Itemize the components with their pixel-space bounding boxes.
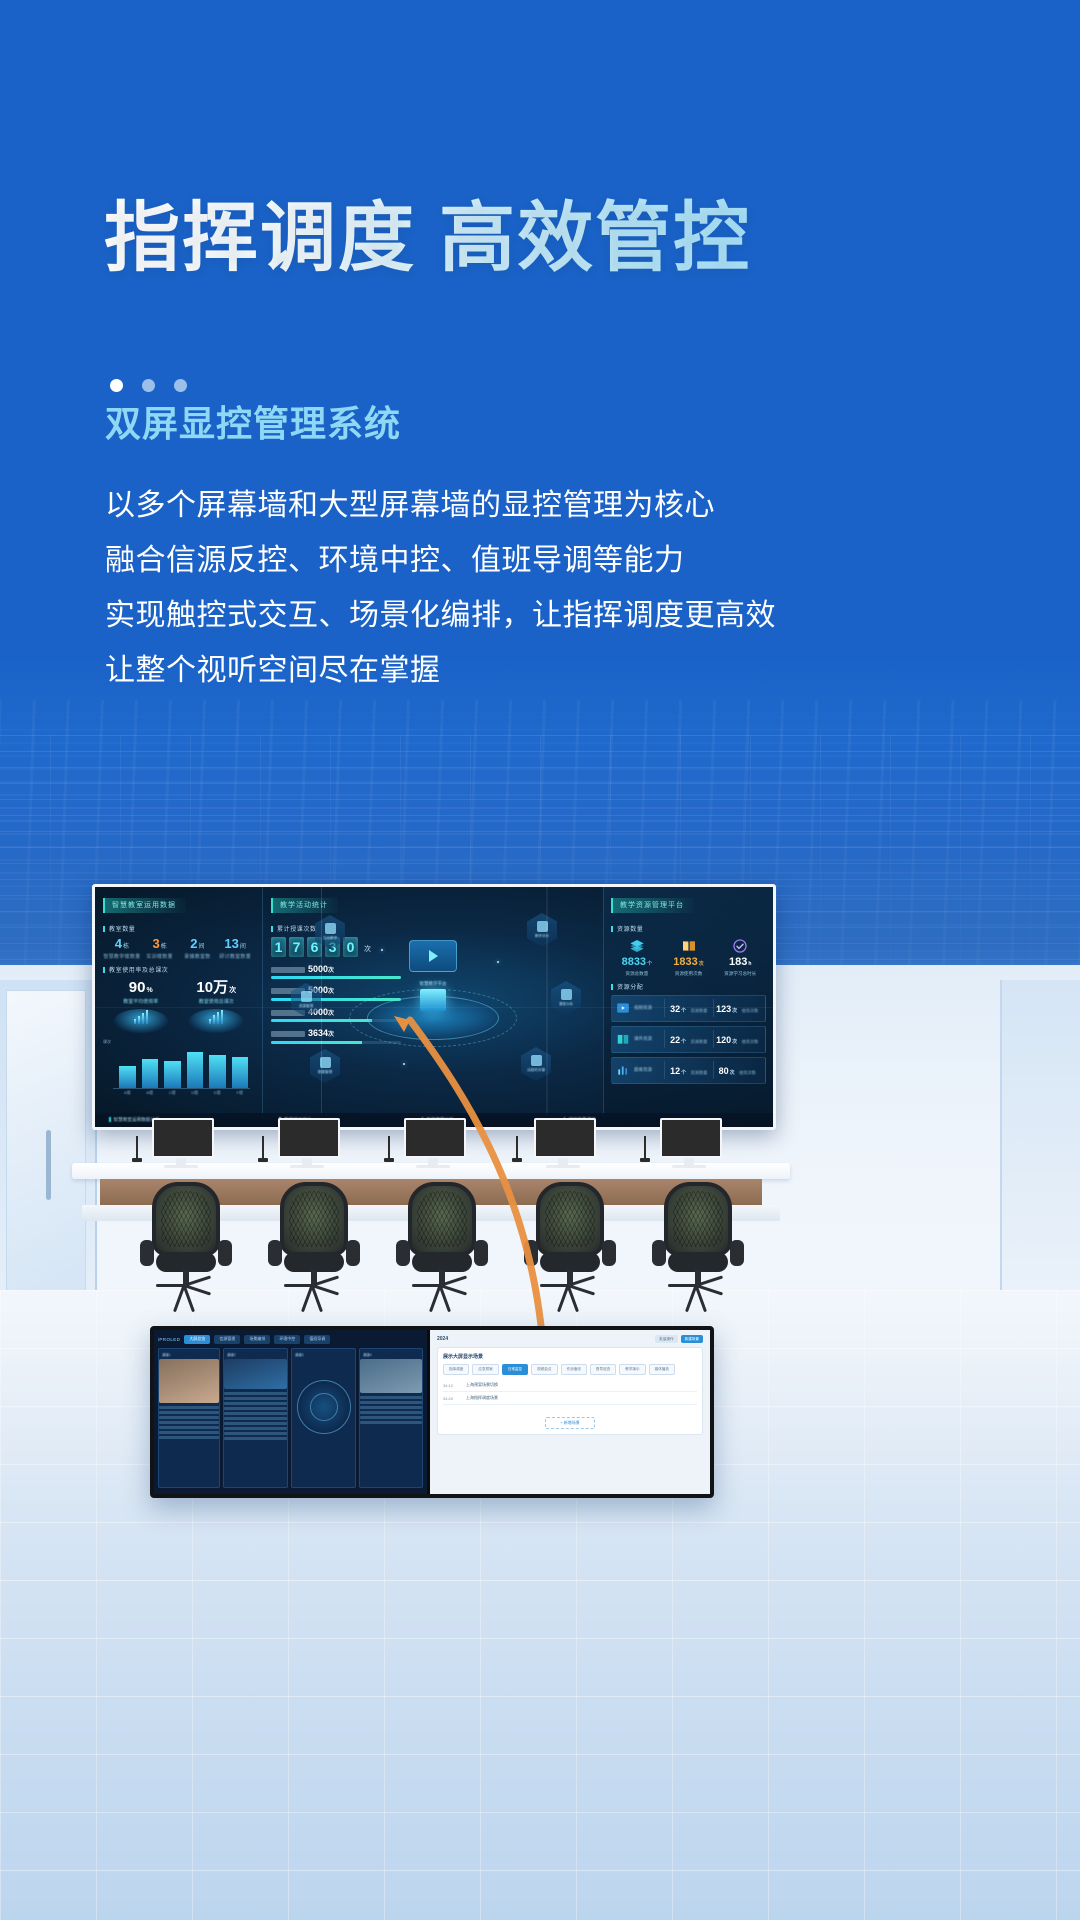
chair-back: [664, 1182, 732, 1256]
resource-value: 8833: [622, 956, 646, 968]
alloc-uses: 123次 使用次数: [713, 999, 762, 1017]
source-cell-4[interactable]: 通道4: [359, 1348, 423, 1488]
hex-glyph-icon: [561, 989, 572, 1000]
mic-base: [384, 1158, 394, 1162]
hex-node-5: 课堂分析: [551, 981, 581, 1015]
scene-chip-5[interactable]: 作战值班: [561, 1364, 587, 1375]
office-chair-1: [140, 1182, 232, 1300]
header-buttons: 批量操作 新建场景: [655, 1335, 703, 1343]
chart-xlabels: A楼 B楼 C楼 D楼 E楼 F楼: [119, 1090, 248, 1096]
hex-label: 数据管理: [318, 1070, 332, 1075]
scene-chip-4[interactable]: 视频会议: [531, 1364, 557, 1375]
monitor-foot: [672, 1165, 706, 1168]
wall-panel-center: 教学活动统计 累计授课次数 1 7 6 3 0 次 5000次: [263, 887, 603, 1127]
scene-chip-2[interactable]: 应急预案: [472, 1364, 498, 1375]
scene-card-title: 展示大屏显示场景: [443, 1353, 697, 1360]
chair-mesh: [417, 1191, 467, 1247]
chair-mesh: [673, 1191, 723, 1247]
source-thumb-person: [159, 1359, 219, 1403]
right-section-2-label: 资源分配: [611, 982, 766, 991]
video-wall[interactable]: 智慧教室运用数据 教室数量 4栋 智慧教学楼数量 3栋 实训楼数量 2间 录播教…: [92, 884, 776, 1130]
device-source-grid: 通道1 通道2 通道3 通道4: [158, 1348, 423, 1488]
resource-caption: 资源总数量: [611, 971, 663, 977]
network-dot: [403, 1063, 405, 1065]
scene-chip-1[interactable]: 指挥调度: [443, 1364, 469, 1375]
chair-arm-right: [218, 1240, 232, 1266]
alloc-count: 22个 资源数量: [664, 1030, 713, 1048]
source-cell-3[interactable]: 通道3: [291, 1348, 356, 1488]
alloc-uses-unit: 次: [732, 1039, 737, 1045]
copy-block: 双屏显控管理系统 以多个屏幕墙和大型屏幕墙的显控管理为核心 融合信源反控、环境中…: [0, 395, 1080, 667]
chart-ylabel: 课次: [103, 1039, 111, 1045]
chair-back: [536, 1182, 604, 1256]
kpi-recording-rooms: 2间 录播教室数: [179, 937, 217, 960]
source-cell-label: 通道4: [363, 1352, 372, 1357]
chart-xlabel: E楼: [209, 1090, 226, 1096]
alloc-count-value: 32: [670, 1004, 680, 1014]
body-line-2: 融合信源反控、环境中控、值班导调等能力: [105, 546, 1080, 576]
scene-chip-list[interactable]: 指挥调度 应急预案 日常监控 视频会议 作战值班 督导巡查 教学演示 媒体播放: [443, 1364, 697, 1375]
dot-1[interactable]: [110, 379, 123, 392]
resource-caption: 资源学习总时长: [714, 971, 766, 977]
monitor-foot: [164, 1165, 198, 1168]
source-thumb-dashboard: [224, 1359, 287, 1389]
book-icon: [681, 938, 697, 954]
book-open-icon: [616, 1032, 630, 1046]
alloc-name: 题库资源: [634, 1067, 664, 1073]
chair-arm-left: [396, 1240, 410, 1266]
subtitle: 双屏显控管理系统: [105, 395, 1080, 447]
source-cell-label: 通道2: [227, 1352, 236, 1357]
year-label: 2024: [437, 1336, 448, 1342]
chart-icon: [616, 1063, 630, 1077]
chair-seat: [540, 1252, 600, 1272]
alloc-count: 32个 资源数量: [664, 999, 713, 1017]
door-handle: [46, 1130, 51, 1200]
kpi-unit: 次: [229, 987, 236, 994]
hex-glyph-icon: [320, 1057, 331, 1068]
device-tab-sources[interactable]: 信源管理: [214, 1335, 240, 1344]
chair-mesh: [545, 1191, 595, 1247]
source-mini-rows: [224, 1392, 287, 1440]
kpi-teaching-buildings: 4栋 智慧教学楼数量: [103, 937, 141, 960]
chair-mesh: [161, 1191, 211, 1247]
resource-alloc-table: 视频资源 32个 资源数量 123次 使用次数: [611, 995, 766, 1084]
alloc-uses: 80次 使用次数: [713, 1061, 762, 1079]
scene-chip-8[interactable]: 媒体播放: [649, 1364, 675, 1375]
resource-unit: 次: [699, 961, 704, 967]
mic-stem: [516, 1136, 518, 1158]
resource-value: 183: [729, 956, 747, 968]
source-mini-rows: [360, 1396, 422, 1424]
monitor-screen: [660, 1118, 722, 1158]
device-left-topbar: iPROLED 大屏总览 信源管理 场景编排 环境中控 值班导调: [158, 1334, 423, 1344]
scene-chip-6[interactable]: 督导巡查: [590, 1364, 616, 1375]
monitor-screen: [278, 1118, 340, 1158]
alloc-row-courseware[interactable]: 课件资源 22个 资源数量 120次 使用次数: [611, 1026, 766, 1053]
radar-visual: [297, 1380, 351, 1434]
page-title: 指挥调度 高效管控: [104, 196, 751, 281]
chair-base: [412, 1282, 472, 1296]
left-bar-chart: 课次 A楼 B楼 C楼 D楼 E楼 F楼: [103, 1039, 254, 1097]
operator-monitor-3: [404, 1118, 462, 1168]
hex-node-1: 互动教学: [315, 915, 345, 949]
device-logo: iPROLED: [158, 1337, 180, 1342]
kpi-value: 13: [224, 936, 238, 951]
kpi-unit: 栋: [123, 944, 129, 950]
alloc-row-question-bank[interactable]: 题库资源 12个 资源数量 80次 使用次数: [611, 1057, 766, 1084]
kpi-value: 90: [129, 979, 146, 996]
sessions-disc-chart: [189, 1009, 243, 1033]
mic-stem: [388, 1136, 390, 1158]
video-wall-screen: 智慧教室运用数据 教室数量 4栋 智慧教学楼数量 3栋 实训楼数量 2间 录播教…: [95, 887, 773, 1127]
chair-arm-right: [474, 1240, 488, 1266]
alloc-count-value: 22: [670, 1035, 680, 1045]
source-thumb-scene: [360, 1359, 422, 1393]
desk-microphone-2: [258, 1136, 268, 1162]
monitor-screen: [534, 1118, 596, 1158]
disc-bars: [134, 1010, 148, 1024]
chair-back: [408, 1182, 476, 1256]
new-scene-button[interactable]: 新建场景: [681, 1335, 703, 1343]
chair-seat: [156, 1252, 216, 1272]
chart-xlabel: D楼: [187, 1090, 204, 1096]
office-chair-3: [396, 1182, 488, 1300]
hex-label: 远程听评课: [527, 1068, 545, 1073]
chart-xlabel: A楼: [119, 1090, 136, 1096]
chair-arm-left: [140, 1240, 154, 1266]
hex-label: 教学评价: [535, 934, 549, 939]
batch-operate-button[interactable]: 批量操作: [655, 1335, 677, 1343]
monitor-neck: [558, 1158, 568, 1165]
chair-seat: [412, 1252, 472, 1272]
alloc-uses-unit: 次: [730, 1070, 735, 1076]
hex-label: 互动教学: [323, 936, 337, 941]
alloc-name: 课件资源: [634, 1036, 664, 1042]
monitor-neck: [684, 1158, 694, 1165]
office-chair-5: [652, 1182, 744, 1300]
operator-monitor-2: [278, 1118, 336, 1168]
mic-base: [132, 1158, 142, 1162]
alloc-uses-value: 120: [716, 1035, 731, 1045]
resource-hours: 183h 资源学习总时长: [714, 938, 766, 977]
kpi-training-buildings: 3栋 实训楼数量: [141, 937, 179, 960]
kpi-total-sessions: 10万次 教室使用总课次: [180, 980, 252, 1033]
source-cell-label: 通道1: [162, 1352, 171, 1357]
body-line-4: 让整个视听空间尽在掌握: [105, 656, 1080, 686]
chart-xlabel: B楼: [142, 1090, 159, 1096]
network-dot: [381, 949, 383, 951]
chair-arm-right: [730, 1240, 744, 1266]
body-copy: 以多个屏幕墙和大型屏幕墙的显控管理为核心 融合信源反控、环境中控、值班导调等能力…: [105, 491, 1080, 686]
chair-arm-left: [652, 1240, 666, 1266]
scene-log-row[interactable]: 34:12 上海预案场景切换: [443, 1379, 697, 1392]
chart-bars: [119, 1048, 248, 1088]
mic-stem: [262, 1136, 264, 1158]
chair-arm-right: [346, 1240, 360, 1266]
mic-base: [512, 1158, 522, 1162]
alloc-count: 12个 资源数量: [664, 1061, 713, 1079]
source-cell-label: 通道3: [295, 1352, 304, 1357]
video-icon: [616, 1001, 630, 1015]
source-cell-1[interactable]: 通道1: [158, 1348, 220, 1488]
add-scene-button[interactable]: + 新增场景: [545, 1417, 594, 1429]
alloc-uses-value: 123: [716, 1004, 731, 1014]
chair-mesh: [289, 1191, 339, 1247]
alloc-uses-caption: 使用次数: [742, 1008, 759, 1013]
resource-uses: 1833次 资源使用次数: [663, 938, 715, 977]
log-text: 上海预案场景切换: [466, 1382, 498, 1388]
resource-value: 1833: [673, 956, 697, 968]
office-chair-4: [524, 1182, 616, 1300]
alloc-count-unit: 个: [681, 1070, 686, 1076]
chair-back: [152, 1182, 220, 1256]
desk-microphone-5: [640, 1136, 650, 1162]
chair-arm-left: [524, 1240, 538, 1266]
check-circle-icon: [732, 938, 748, 954]
monitor-neck: [176, 1158, 186, 1165]
operator-monitor-1: [152, 1118, 210, 1168]
log-time: 34:20: [443, 1396, 461, 1401]
hex-node-cluster: 互动教学 资源管理 数据管理 教学评价 课堂分析 远程听评课: [263, 887, 603, 1127]
kpi-unit: 间: [198, 944, 204, 950]
device-tab-scenes[interactable]: 场景编排: [244, 1335, 270, 1344]
source-mini-rows: [159, 1406, 219, 1439]
disc-bars: [209, 1010, 223, 1024]
kpi-caption: 录播教室数: [179, 953, 217, 960]
chair-seat: [668, 1252, 728, 1272]
poster-page: 指挥调度 高效管控 双屏显控管理系统 以多个屏幕墙和大型屏幕墙的显控管理为核心 …: [0, 0, 1080, 1920]
left-kpi2-row: 90% 教室平均使用率 10万次 教室使用总课次: [103, 980, 254, 1033]
log-text: 上海指挥调度场景: [466, 1395, 498, 1401]
mic-base: [640, 1158, 650, 1162]
body-line-1: 以多个屏幕墙和大型屏幕墙的显控管理为核心: [105, 491, 1080, 521]
device-right-screen[interactable]: 2024 批量操作 新建场景 展示大屏显示场景 指挥调度 应急预案 日常监控 视…: [430, 1330, 710, 1494]
office-chair-2: [268, 1182, 360, 1300]
hex-node-3: 数据管理: [310, 1049, 340, 1083]
hex-label: 课堂分析: [559, 1002, 573, 1007]
kpi-value: 2: [190, 936, 197, 951]
scene-chip-3[interactable]: 日常监控: [502, 1364, 528, 1375]
chart-axis: [113, 1088, 250, 1089]
chair-back: [280, 1182, 348, 1256]
left-panel-title: 智慧教室运用数据: [103, 898, 186, 913]
monitor-screen: [404, 1118, 466, 1158]
source-cell-2[interactable]: 通道2: [223, 1348, 288, 1488]
mic-stem: [644, 1136, 646, 1158]
operator-monitor-4: [534, 1118, 592, 1168]
hex-glyph-icon: [301, 991, 312, 1002]
scene-card-footer: + 新增场景: [443, 1411, 697, 1429]
hex-label: 资源管理: [299, 1004, 313, 1009]
kpi-caption: 智慧教学楼数量: [103, 953, 141, 960]
monitor-foot: [416, 1165, 450, 1168]
device-left-screen[interactable]: iPROLED 大屏总览 信源管理 场景编排 环境中控 值班导调 通道1 通道2: [154, 1330, 430, 1494]
scene-log-table: 34:12 上海预案场景切换 34:20 上海指挥调度场景: [443, 1379, 697, 1405]
chair-base: [156, 1282, 216, 1296]
alloc-uses-value: 80: [719, 1066, 729, 1076]
alloc-count-value: 12: [670, 1066, 680, 1076]
resource-unit: h: [748, 961, 751, 967]
hex-node-2: 资源管理: [291, 983, 321, 1017]
chart-xlabel: F楼: [232, 1090, 249, 1096]
chair-seat: [284, 1252, 344, 1272]
carousel-dots[interactable]: [110, 379, 187, 392]
dot-2[interactable]: [142, 379, 155, 392]
dot-3[interactable]: [174, 379, 187, 392]
scene-log-row[interactable]: 34:20 上海指挥调度场景: [443, 1392, 697, 1405]
scene-card: 展示大屏显示场景 指挥调度 应急预案 日常监控 视频会议 作战值班 督导巡查 教…: [437, 1347, 703, 1435]
alloc-uses-unit: 次: [732, 1008, 737, 1014]
right-panel-title: 教学资源管理平台: [611, 898, 694, 913]
alloc-count-caption: 资源数量: [691, 1070, 708, 1075]
kpi-unit: %: [146, 987, 152, 994]
kpi-caption: 研讨教室数量: [216, 953, 254, 960]
left-kpi-row: 4栋 智慧教学楼数量 3栋 实训楼数量 2间 录播教室数 13间 研讨教室数量: [103, 937, 254, 960]
mic-stem: [136, 1136, 138, 1158]
device-tab-overview[interactable]: 大屏总览: [184, 1335, 210, 1344]
operator-monitor-5: [660, 1118, 718, 1168]
log-time: 34:12: [443, 1383, 461, 1388]
alloc-count-unit: 个: [681, 1008, 686, 1014]
chart-xlabel: C楼: [164, 1090, 181, 1096]
hex-glyph-icon: [537, 921, 548, 932]
desk-microphone-3: [384, 1136, 394, 1162]
kpi-caption: 教室平均使用率: [105, 998, 177, 1005]
kpi-caption: 实训楼数量: [141, 953, 179, 960]
monitor-foot: [546, 1165, 580, 1168]
resource-caption: 资源使用次数: [663, 971, 715, 977]
hex-node-6: 远程听评课: [521, 1047, 551, 1081]
monitor-screen: [152, 1118, 214, 1158]
left-section-2-label: 教室使用率及总课次: [103, 965, 254, 974]
kpi-unit: 栋: [161, 944, 167, 950]
kpi-value: 3: [153, 936, 160, 951]
device-right-header: 2024 批量操作 新建场景: [437, 1335, 703, 1343]
alloc-uses-caption: 使用次数: [739, 1070, 756, 1075]
wall-panel-left: 智慧教室运用数据 教室数量 4栋 智慧教学楼数量 3栋 实训楼数量 2间 录播教…: [95, 887, 263, 1127]
kpi-caption: 教室使用总课次: [180, 998, 252, 1005]
layers-icon: [629, 938, 645, 954]
dual-screen-device[interactable]: iPROLED 大屏总览 信源管理 场景编排 环境中控 值班导调 通道1 通道2: [150, 1326, 714, 1498]
monitor-foot: [290, 1165, 324, 1168]
resource-total: 8833个 资源总数量: [611, 938, 663, 977]
kpi-value: 4: [115, 936, 122, 951]
desk-microphone-1: [132, 1136, 142, 1162]
kpi-value: 10万: [196, 979, 228, 996]
usage-disc-chart: [114, 1009, 168, 1033]
monitor-neck: [428, 1158, 438, 1165]
chair-arm-left: [268, 1240, 282, 1266]
desk-microphone-4: [512, 1136, 522, 1162]
chair-base: [668, 1282, 728, 1296]
alloc-count-caption: 资源数量: [691, 1008, 708, 1013]
alloc-uses-caption: 使用次数: [742, 1039, 759, 1044]
alloc-uses: 120次 使用次数: [713, 1030, 762, 1048]
resource-kpi-row: 8833个 资源总数量 1833次 资源使用次数 1: [611, 938, 766, 977]
alloc-name: 视频资源: [634, 1005, 664, 1011]
hex-node-4: 教学评价: [527, 913, 557, 947]
left-section-1-label: 教室数量: [103, 924, 254, 933]
mic-base: [258, 1158, 268, 1162]
scene-chip-7[interactable]: 教学演示: [619, 1364, 645, 1375]
device-tab-duty[interactable]: 值班导调: [304, 1335, 330, 1344]
kpi-seminar-rooms: 13间 研讨教室数量: [216, 937, 254, 960]
right-section-1-label: 资源数量: [611, 924, 766, 933]
alloc-row-video[interactable]: 视频资源 32个 资源数量 123次 使用次数: [611, 995, 766, 1022]
kpi-usage-rate: 90% 教室平均使用率: [105, 980, 177, 1033]
hex-glyph-icon: [531, 1055, 542, 1066]
alloc-count-unit: 个: [681, 1039, 686, 1045]
hex-glyph-icon: [325, 923, 336, 934]
chair-base: [284, 1282, 344, 1296]
monitor-neck: [302, 1158, 312, 1165]
alloc-count-caption: 资源数量: [691, 1039, 708, 1044]
wall-panel-right: 教学资源管理平台 资源数量 8833个 资源总数量 1833次: [603, 887, 773, 1127]
resource-unit: 个: [647, 961, 652, 967]
chair-arm-right: [602, 1240, 616, 1266]
device-tab-environment[interactable]: 环境中控: [274, 1335, 300, 1344]
body-line-3: 实现触控式交互、场景化编排，让指挥调度更高效: [105, 601, 1080, 631]
network-dot: [497, 961, 499, 963]
kpi-unit: 间: [240, 944, 246, 950]
chair-base: [540, 1282, 600, 1296]
